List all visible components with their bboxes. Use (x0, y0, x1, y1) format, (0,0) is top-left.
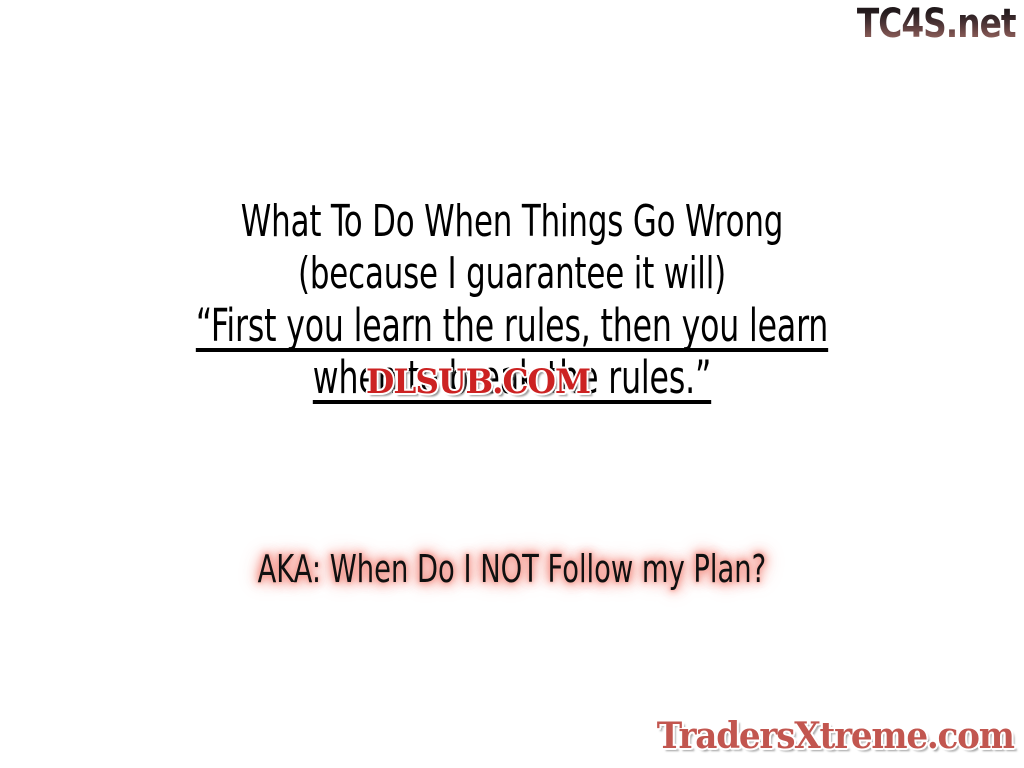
subtitle-text: AKA: When Do I NOT Follow my Plan? (258, 546, 767, 592)
title-line-3-quote: “First you learn the rules, then you lea… (113, 300, 912, 352)
title-line-1: What To Do When Things Go Wrong (113, 196, 912, 248)
tc4s-net-watermark: TC4S.net (857, 2, 1016, 46)
title-line-2: (because I guarantee it will) (113, 248, 912, 300)
slide-canvas: TC4S.net What To Do When Things Go Wrong… (0, 0, 1024, 768)
tradersxtreme-com-watermark: TradersXtreme.com (657, 716, 1014, 756)
slide-subtitle-block: AKA: When Do I NOT Follow my Plan? (0, 546, 1024, 592)
dlsub-com-watermark: DLSUB.COM (366, 364, 590, 400)
